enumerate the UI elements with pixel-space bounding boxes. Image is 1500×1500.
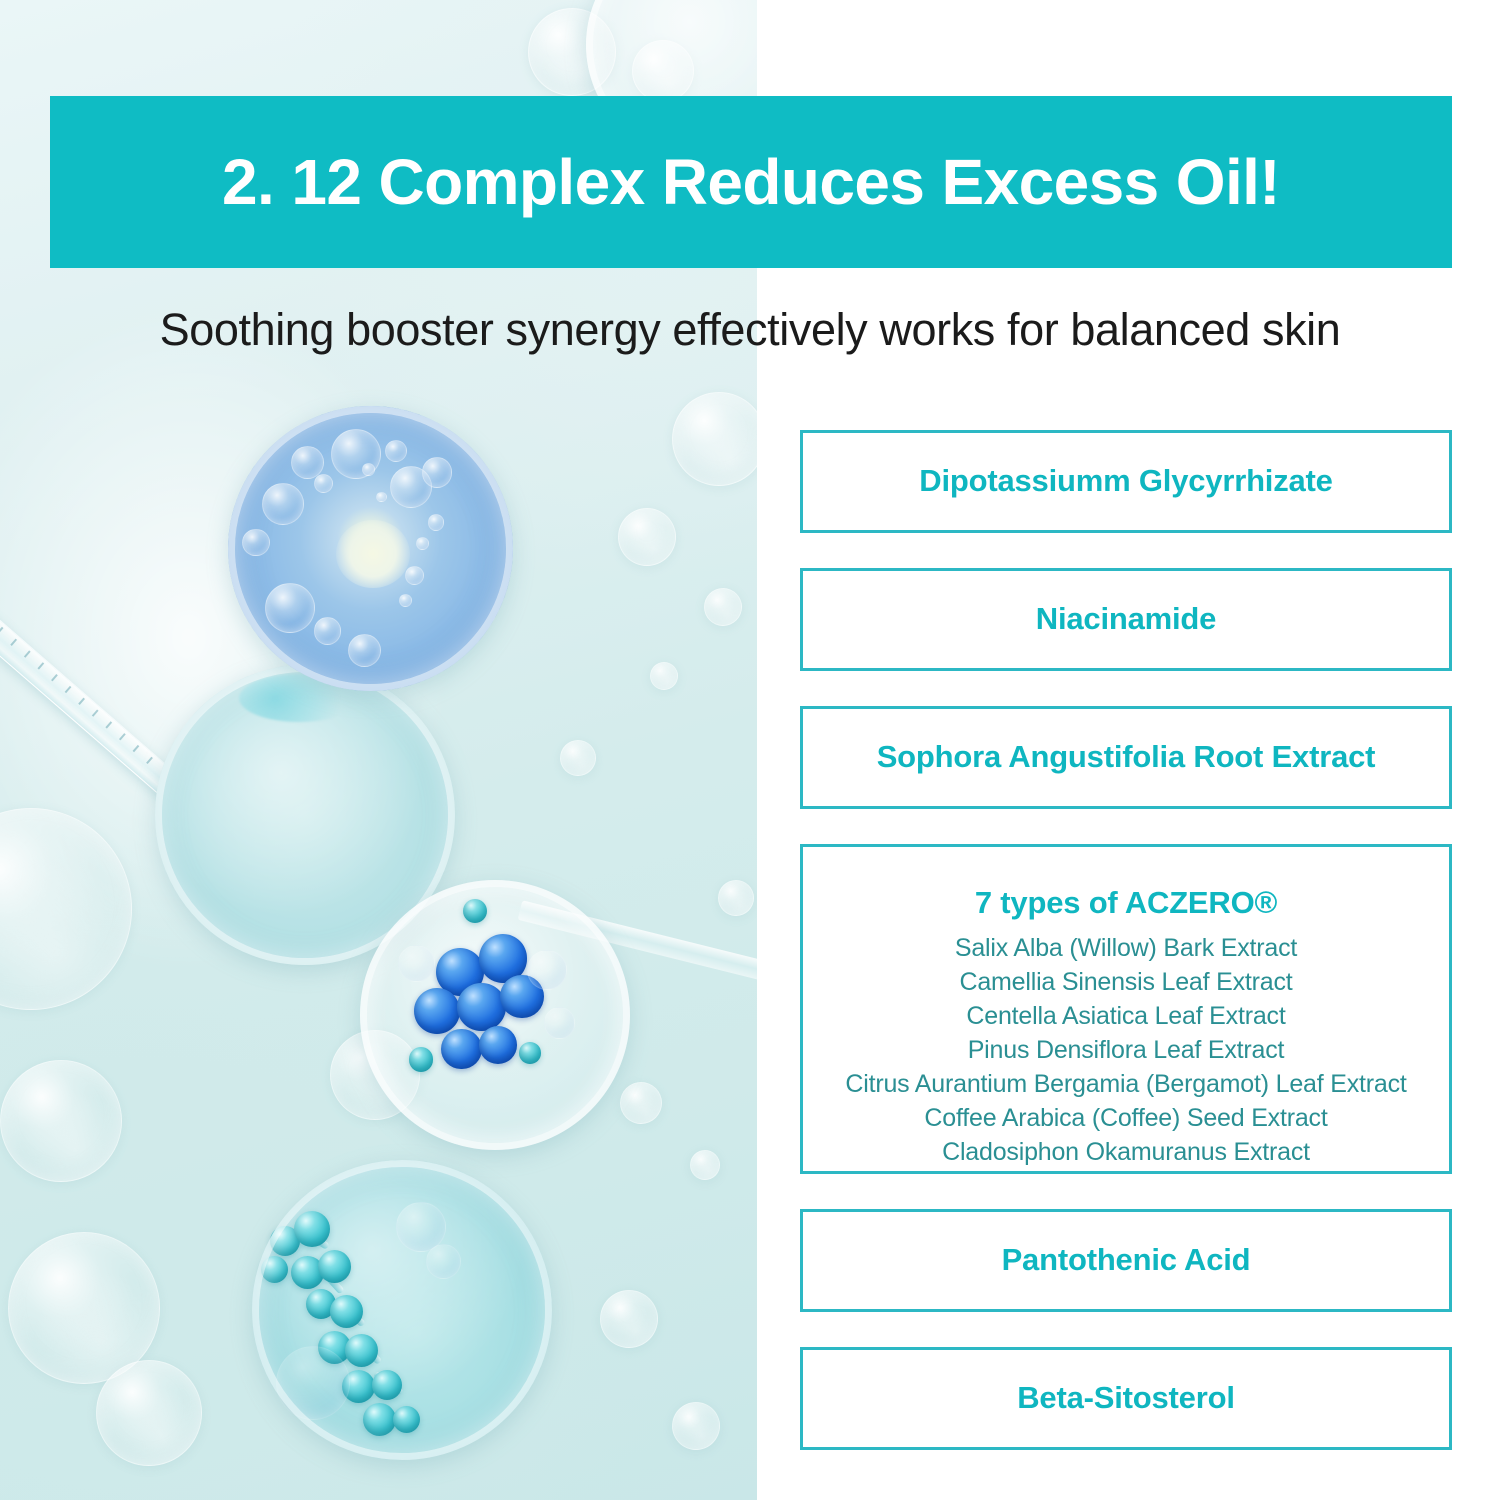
ingredient-group-item: Pinus Densiflora Leaf Extract [968, 1033, 1285, 1067]
ingredient-group-item: Camellia Sinensis Leaf Extract [959, 965, 1292, 999]
subtitle-text: Soothing booster synergy effectively wor… [0, 304, 1500, 356]
bubble-icon [672, 1402, 720, 1450]
header-banner: 2. 12 Complex Reduces Excess Oil! [50, 96, 1452, 268]
ingredient-box-pantothenic-acid: Pantothenic Acid [800, 1209, 1452, 1312]
petri-dish-blue-bubbles [228, 406, 513, 691]
ingredient-group-item: Cladosiphon Okamuranus Extract [942, 1135, 1310, 1169]
molecule-atom [294, 1211, 330, 1247]
page-title: 2. 12 Complex Reduces Excess Oil! [222, 150, 1280, 214]
ingredient-group-heading: 7 types of ACZERO® [975, 885, 1277, 921]
petri-dish-blue-molecule [360, 880, 630, 1150]
ingredient-label: Pantothenic Acid [1002, 1243, 1251, 1277]
molecule-atom [441, 1029, 482, 1070]
ingredient-list: Dipotassiumm Glycyrrhizate Niacinamide S… [800, 430, 1452, 1485]
bubble-icon [690, 1150, 720, 1180]
molecule-atom [463, 899, 487, 923]
bubble-icon [0, 1060, 122, 1182]
petri-dish-teal-molecule-chain [252, 1160, 552, 1460]
molecule-atom [330, 1295, 363, 1328]
bubble-icon [672, 392, 757, 486]
molecule-atom [457, 983, 506, 1032]
molecule-atom [393, 1406, 420, 1433]
ingredient-box-aczero-group: 7 types of ACZERO® Salix Alba (Willow) B… [800, 844, 1452, 1174]
bubble-icon [600, 1290, 658, 1348]
bubble-icon [704, 588, 742, 626]
ingredient-label: Niacinamide [1036, 602, 1216, 636]
bubble-icon [96, 1360, 202, 1466]
bubble-icon [560, 740, 596, 776]
molecule-atom [479, 1026, 517, 1064]
dish-center-highlight [336, 520, 410, 588]
ingredient-group-item: Centella Asiatica Leaf Extract [966, 999, 1285, 1033]
molecule-atom [261, 1256, 288, 1283]
molecule-atom [519, 1042, 541, 1064]
ingredient-box-beta-sitosterol: Beta-Sitosterol [800, 1347, 1452, 1450]
ingredient-box-niacinamide: Niacinamide [800, 568, 1452, 671]
ingredient-group-item: Coffee Arabica (Coffee) Seed Extract [924, 1101, 1327, 1135]
molecule-atom [372, 1370, 402, 1400]
bubble-icon [650, 662, 678, 690]
ingredient-box-dipotassium-glycyrrhizate: Dipotassiumm Glycyrrhizate [800, 430, 1452, 533]
ingredient-label: Sophora Angustifolia Root Extract [877, 740, 1376, 774]
ingredient-box-sophora-angustifolia-root-extract: Sophora Angustifolia Root Extract [800, 706, 1452, 809]
molecule-atom [318, 1250, 351, 1283]
ingredient-group-item: Salix Alba (Willow) Bark Extract [955, 931, 1297, 965]
ingredient-group-item: Citrus Aurantium Bergamia (Bergamot) Lea… [845, 1067, 1406, 1101]
bubble-icon [718, 880, 754, 916]
bubble-icon [620, 1082, 662, 1124]
molecule-atom [363, 1403, 396, 1436]
ingredient-label: Dipotassiumm Glycyrrhizate [919, 464, 1332, 498]
ingredient-label: Beta-Sitosterol [1017, 1381, 1234, 1415]
molecule-atom [414, 988, 460, 1034]
molecule-atom [345, 1334, 378, 1367]
bubble-icon [0, 808, 132, 1010]
molecule-atom [409, 1047, 433, 1071]
bubble-icon [618, 508, 676, 566]
